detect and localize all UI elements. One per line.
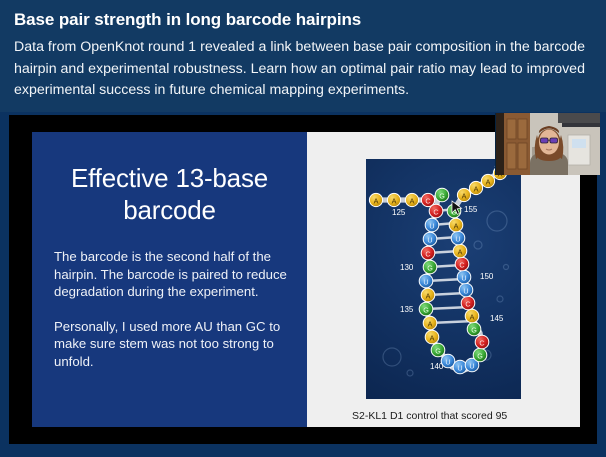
svg-text:C: C <box>425 249 430 258</box>
svg-text:A: A <box>454 221 459 230</box>
svg-text:G: G <box>427 263 433 272</box>
slide-paragraph-2: Personally, I used more AU than GC to ma… <box>52 318 287 371</box>
svg-text:U: U <box>429 221 434 230</box>
svg-text:A: A <box>462 191 467 200</box>
svg-text:G: G <box>471 325 477 334</box>
svg-text:A: A <box>430 333 435 342</box>
presenter-webcam[interactable] <box>495 113 600 175</box>
webcam-video-svg <box>496 113 600 175</box>
svg-text:G: G <box>423 305 429 314</box>
nucleotide-group-loop: U U U G C <box>441 335 489 374</box>
slide-figure-panel: A A A C G <box>307 132 580 427</box>
rna-secondary-structure-figure: A A A C G <box>366 159 521 399</box>
svg-text:U: U <box>469 361 474 370</box>
rna-label-140: 140 <box>430 362 444 371</box>
svg-text:A: A <box>470 312 475 321</box>
svg-text:C: C <box>425 196 430 205</box>
screenshot-root: Base pair strength in long barcode hairp… <box>0 0 606 457</box>
svg-text:A: A <box>374 196 379 205</box>
rna-label-155: 155 <box>464 205 478 214</box>
svg-text:C: C <box>459 260 464 269</box>
svg-text:C: C <box>433 207 438 216</box>
svg-text:U: U <box>423 277 428 286</box>
svg-text:U: U <box>427 235 432 244</box>
slide-text-panel: Effective 13-base barcode The barcode is… <box>32 132 307 427</box>
rna-structure-svg: A A A C G <box>366 159 521 399</box>
rna-label-135: 135 <box>400 305 414 314</box>
rna-label-125: 125 <box>392 208 406 217</box>
svg-text:A: A <box>486 177 491 186</box>
svg-text:U: U <box>461 273 466 282</box>
svg-text:A: A <box>392 196 397 205</box>
header-band: Base pair strength in long barcode hairp… <box>0 0 606 112</box>
svg-text:U: U <box>455 234 460 243</box>
svg-text:G: G <box>477 351 483 360</box>
page-title: Base pair strength in long barcode hairp… <box>14 9 592 30</box>
svg-text:U: U <box>445 357 450 366</box>
svg-text:A: A <box>474 184 479 193</box>
rna-label-130: 130 <box>400 263 414 272</box>
rna-label-150: 150 <box>480 272 494 281</box>
nucleotide-group-strand5: G C U U C G <box>419 188 449 357</box>
svg-text:U: U <box>457 363 462 372</box>
svg-text:A: A <box>458 247 463 256</box>
slide-heading: Effective 13-base barcode <box>52 162 287 226</box>
svg-text:A: A <box>426 291 431 300</box>
svg-text:U: U <box>463 286 468 295</box>
svg-text:G: G <box>439 191 445 200</box>
presentation-slide: Effective 13-base barcode The barcode is… <box>32 132 580 427</box>
svg-text:A: A <box>410 196 415 205</box>
rna-label-145: 145 <box>490 314 504 323</box>
nucleotide-group-strand3: G A C U U C <box>447 204 481 336</box>
svg-text:A: A <box>428 319 433 328</box>
svg-text:C: C <box>479 338 484 347</box>
svg-text:C: C <box>465 299 470 308</box>
page-description: Data from OpenKnot round 1 revealed a li… <box>14 37 592 102</box>
svg-text:G: G <box>435 346 441 355</box>
slide-paragraph-1: The barcode is the second half of the ha… <box>52 248 287 301</box>
figure-caption: S2-KL1 D1 control that scored 95 <box>352 410 507 423</box>
